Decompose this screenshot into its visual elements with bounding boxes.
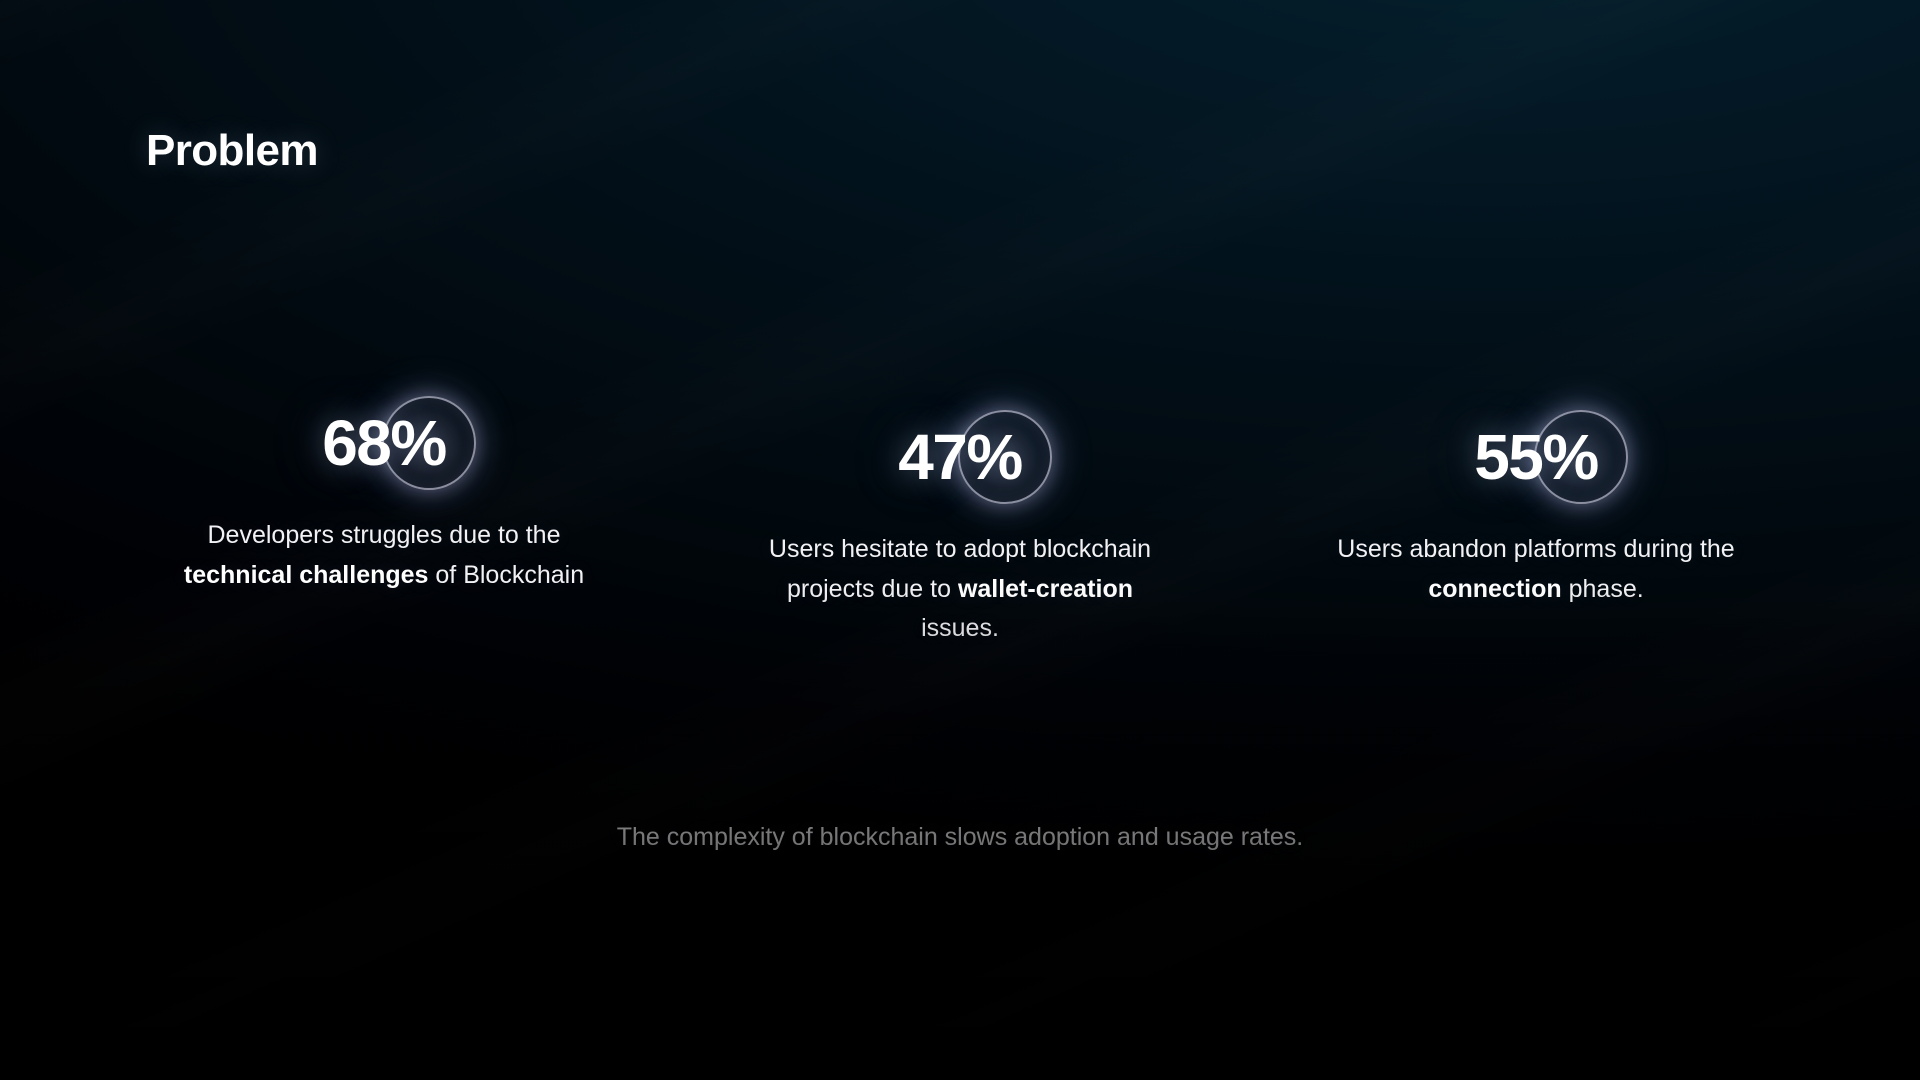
stat-figure: 47% xyxy=(672,398,1248,516)
stat-figure: 68% xyxy=(96,384,672,502)
caption-text: phase. xyxy=(1562,575,1644,603)
stat-figure: 55% xyxy=(1248,398,1824,516)
stat-value: 68% xyxy=(322,411,446,475)
stat-value: 55% xyxy=(1474,425,1598,489)
stat-block: 55%Users abandon platforms during the co… xyxy=(1248,398,1824,609)
caption-text: Developers struggles due to the xyxy=(208,521,561,549)
stat-caption: Users hesitate to adopt blockchain proje… xyxy=(745,530,1175,649)
page-title: Problem xyxy=(146,126,318,176)
stat-caption: Developers struggles due to the technica… xyxy=(169,516,599,595)
stat-caption: Users abandon platforms during the conne… xyxy=(1321,530,1751,609)
stats-row: 68%Developers struggles due to the techn… xyxy=(0,398,1920,649)
caption-emphasis: wallet-creation xyxy=(958,575,1133,603)
caption-emphasis: connection xyxy=(1428,575,1561,603)
caption-text: of Blockchain xyxy=(428,561,584,589)
summary-line: The complexity of blockchain slows adopt… xyxy=(0,823,1920,852)
stat-block: 47%Users hesitate to adopt blockchain pr… xyxy=(672,398,1248,649)
caption-text: issues. xyxy=(921,614,999,642)
caption-text: Users abandon platforms during the xyxy=(1337,535,1734,563)
caption-emphasis: technical challenges xyxy=(184,561,429,589)
slide-canvas: Problem 68%Developers struggles due to t… xyxy=(0,0,1920,1080)
stat-block: 68%Developers struggles due to the techn… xyxy=(96,384,672,595)
stat-value: 47% xyxy=(898,425,1022,489)
